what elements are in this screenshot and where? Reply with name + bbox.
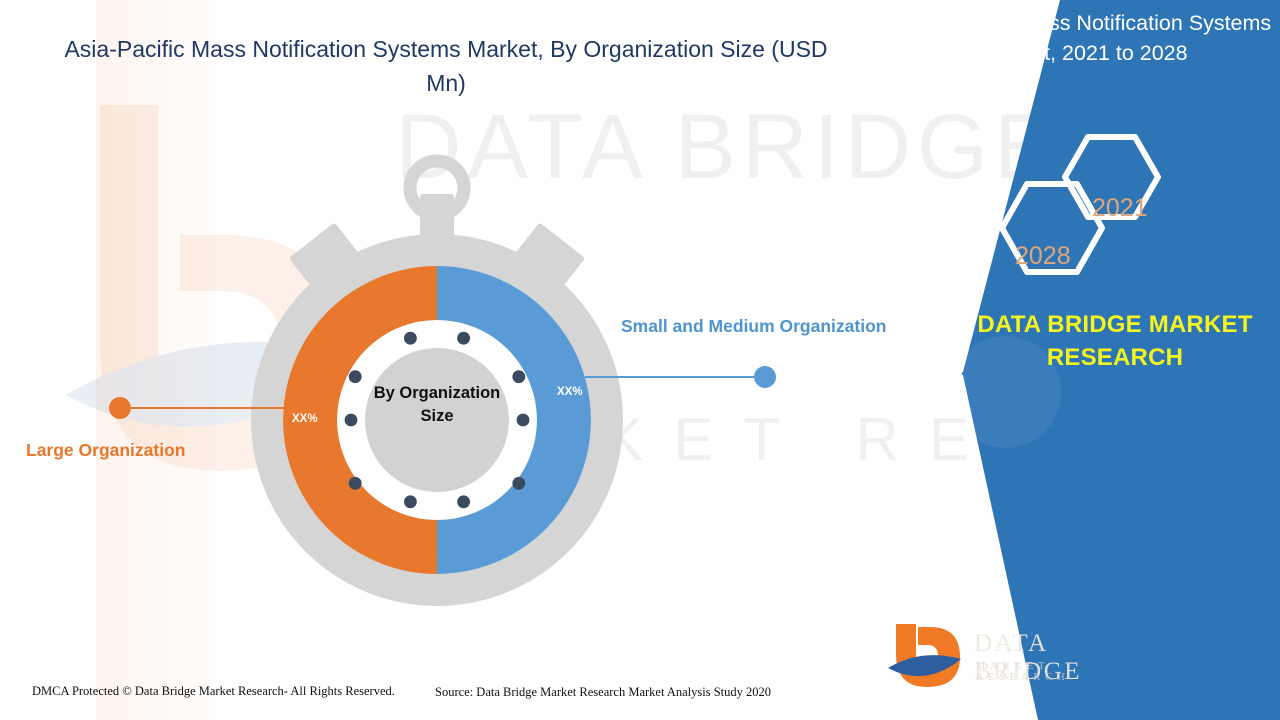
hexagon-2021-label: 2021 (1092, 194, 1148, 223)
b-swoosh-icon (886, 620, 966, 692)
infographic-slide: DATA BRIDGE MARKET RESEARCH Asia-Pacific… (0, 0, 1280, 720)
panel-title: Asia-Pacific Mass Notification Systems M… (900, 8, 1272, 68)
data-bridge-logo: DATA BRIDGE MARKET RESEARCH (886, 620, 1101, 696)
value-label-small-medium-organization: XX% (557, 386, 583, 398)
connector-line-right (585, 376, 765, 378)
donut-center-line2: Size (347, 405, 527, 428)
connector-line-left (128, 407, 303, 409)
year-hexagons: 2021 2028 (985, 132, 1185, 284)
page-title: Asia-Pacific Mass Notification Systems M… (46, 32, 846, 100)
donut-center-label: By Organization Size (347, 382, 527, 428)
legend-label-small-medium-organization: Small and Medium Organization (621, 316, 886, 337)
footer: DMCA Protected © Data Bridge Market Rese… (0, 684, 860, 714)
legend-label-large-organization: Large Organization (26, 440, 185, 461)
connector-dot-left[interactable] (109, 397, 131, 419)
brand-name: DATA BRIDGE MARKET RESEARCH (950, 308, 1280, 374)
donut-center-line1: By Organization (347, 382, 527, 405)
hexagon-2028-label: 2028 (1015, 242, 1071, 271)
logo-sub-text: MARKET RESEARCH (976, 661, 1101, 683)
value-label-large-organization: XX% (292, 413, 318, 425)
footer-source-text: Source: Data Bridge Market Research Mark… (435, 685, 771, 700)
donut-chart (217, 140, 657, 620)
connector-dot-right[interactable] (754, 366, 776, 388)
footer-dmca-text: DMCA Protected © Data Bridge Market Rese… (32, 684, 395, 699)
